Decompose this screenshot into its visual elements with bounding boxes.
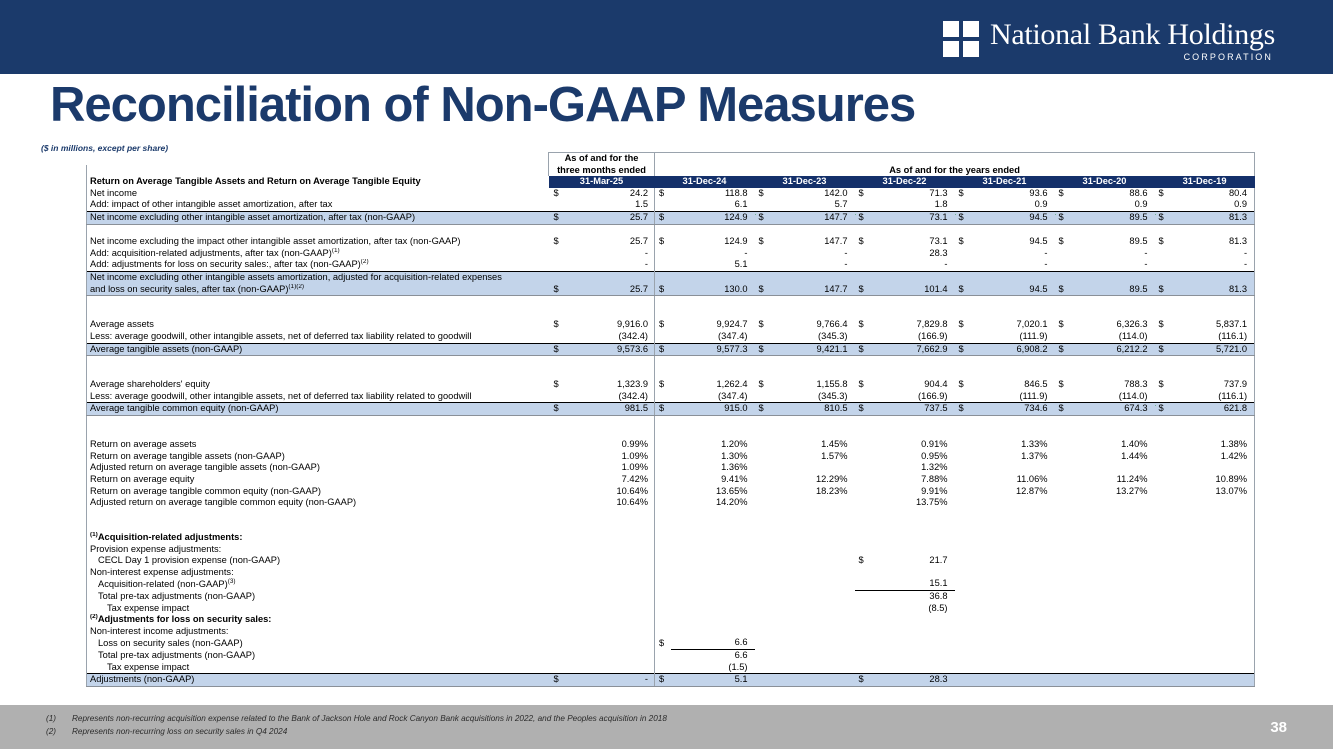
cell-value: 7.42%	[567, 474, 655, 486]
currency-symbol	[1155, 248, 1171, 260]
cell-value: 25.7	[567, 211, 655, 224]
cell-value: (1.5)	[671, 662, 755, 674]
footnote-ref: (2)	[90, 614, 98, 620]
cell-value: 9,573.6	[567, 343, 655, 356]
cell-value	[1171, 662, 1255, 674]
spacer-cell	[855, 462, 871, 474]
spacer-cell	[549, 603, 567, 615]
currency-symbol	[1155, 391, 1171, 403]
footnote-ref: (2)	[361, 259, 369, 265]
cell-value: 7.88%	[871, 474, 955, 486]
table-row: (1)Acquisition-related adjustments:	[87, 532, 1255, 544]
spacer-cell	[655, 462, 671, 474]
spacer-row	[87, 356, 1255, 368]
cell-value: 12.29%	[771, 474, 855, 486]
table-row-subtotal: Average tangible assets (non-GAAP) $ 9,5…	[87, 343, 1255, 356]
cell-value: 5,837.1	[1171, 319, 1255, 331]
cell-value	[1071, 649, 1155, 661]
currency-symbol: $	[855, 284, 871, 296]
group-header-years: As of and for the years ended	[655, 165, 1255, 177]
spacer-cell	[655, 308, 1255, 320]
footnote-1-heading: (1)Acquisition-related adjustments:	[87, 532, 549, 544]
cell-value: -	[567, 259, 655, 271]
currency-symbol: $	[1155, 403, 1171, 416]
table-row: Add: impact of other intangible asset am…	[87, 199, 1255, 211]
spacer-cell	[955, 637, 971, 649]
cell-value: 10.64%	[567, 486, 655, 498]
currency-symbol: $	[549, 674, 567, 687]
currency-symbol	[655, 331, 671, 343]
spacer-cell	[655, 474, 671, 486]
currency-symbol: $	[549, 211, 567, 224]
cell-value: -	[771, 259, 855, 271]
cell-value: -	[567, 674, 655, 687]
spacer-cell	[755, 439, 771, 451]
cell-value	[971, 662, 1055, 674]
currency-symbol	[955, 391, 971, 403]
cell-value: 81.3	[1171, 236, 1255, 248]
spacer-cell	[755, 649, 771, 661]
cell-value: 24.2	[567, 188, 655, 200]
cell-value: 11.24%	[1071, 474, 1155, 486]
header-bar: National Bank Holdings CORPORATION	[0, 0, 1333, 74]
cell-value: -	[771, 248, 855, 260]
spacer-cell	[1055, 462, 1071, 474]
cell-value: 28.3	[871, 674, 955, 687]
spacer-cell	[87, 509, 549, 521]
cell-value: (111.9)	[971, 331, 1055, 343]
cell-value: 130.0	[671, 284, 755, 296]
spacer-cell	[855, 578, 871, 590]
spacer-cell	[549, 614, 655, 626]
cell-value: (114.0)	[1071, 391, 1155, 403]
table-row: Acquisition-related (non-GAAP)(3) 15.1	[87, 578, 1255, 590]
spacer-cell	[549, 532, 655, 544]
cell-value: 1.44%	[1071, 451, 1155, 463]
cell-value: 1.45%	[771, 439, 855, 451]
spacer-cell	[655, 520, 1255, 532]
cell-value: 12.87%	[971, 486, 1055, 498]
cell-value: 5.1	[671, 674, 755, 687]
cell-value: 6,326.3	[1071, 319, 1155, 331]
spacer-cell	[655, 567, 1255, 579]
cell-value: 0.9	[1171, 199, 1255, 211]
cell-value: 1.37%	[971, 451, 1055, 463]
spacer-cell	[655, 271, 1255, 283]
spacer-cell	[549, 271, 655, 283]
cell-value: 915.0	[671, 403, 755, 416]
spacer-cell	[655, 603, 671, 615]
spacer-cell	[955, 662, 971, 674]
cell-value	[1071, 590, 1155, 602]
spacer-cell	[955, 497, 971, 509]
cell-value: 89.5	[1071, 284, 1155, 296]
cell-value: 674.3	[1071, 403, 1155, 416]
currency-symbol	[755, 248, 771, 260]
cell-value: 0.9	[971, 199, 1055, 211]
cell-value: 93.6	[971, 188, 1055, 200]
spacer-cell	[755, 662, 771, 674]
col-header-31-dec-22: 31-Dec-22	[855, 176, 955, 188]
spacer-cell	[549, 224, 655, 236]
cell-value: 73.1	[871, 211, 955, 224]
currency-symbol: $	[855, 674, 871, 687]
currency-symbol	[1055, 391, 1071, 403]
cell-value	[567, 603, 655, 615]
cell-value: 36.8	[871, 590, 955, 602]
spacer-cell	[549, 368, 655, 380]
cell-value	[1071, 637, 1155, 649]
spacer-cell	[87, 165, 549, 177]
cell-value	[1171, 555, 1255, 567]
cell-value: 1.09%	[567, 462, 655, 474]
spacer-cell	[755, 474, 771, 486]
currency-symbol: $	[655, 343, 671, 356]
spacer-cell	[955, 590, 971, 602]
cell-value: 9,766.4	[771, 319, 855, 331]
currency-symbol: $	[955, 188, 971, 200]
spacer-cell	[955, 649, 971, 661]
cell-value: -	[871, 259, 955, 271]
currency-symbol: $	[1055, 188, 1071, 200]
cell-value: 94.5	[971, 284, 1055, 296]
spacer-row	[87, 428, 1255, 440]
cell-value: 142.0	[771, 188, 855, 200]
spacer-cell	[755, 637, 771, 649]
spacer-cell	[1155, 637, 1171, 649]
cell-value	[971, 649, 1055, 661]
cell-value: 81.3	[1171, 211, 1255, 224]
spacer-cell	[549, 474, 567, 486]
cell-value: 81.3	[1171, 284, 1255, 296]
footnote-ref: (1)	[90, 532, 98, 538]
table-row-subtotal: Average tangible common equity (non-GAAP…	[87, 403, 1255, 416]
cell-value: 7,020.1	[971, 319, 1055, 331]
currency-symbol: $	[755, 343, 771, 356]
currency-symbol	[1055, 248, 1071, 260]
table-row: Less: average goodwill, other intangible…	[87, 391, 1255, 403]
spacer-cell	[1055, 497, 1071, 509]
currency-symbol	[1155, 331, 1171, 343]
row-label: Average tangible common equity (non-GAAP…	[87, 403, 549, 416]
cell-value: 737.9	[1171, 379, 1255, 391]
spacer-cell	[955, 603, 971, 615]
cell-value	[971, 637, 1055, 649]
row-label: Total pre-tax adjustments (non-GAAP)	[87, 649, 549, 661]
cell-value: -	[567, 248, 655, 260]
currency-symbol: $	[955, 379, 971, 391]
currency-symbol: $	[955, 319, 971, 331]
cell-value: 13.07%	[1171, 486, 1255, 498]
cell-value	[671, 603, 755, 615]
currency-symbol	[1155, 199, 1171, 211]
spacer-cell	[655, 590, 671, 602]
currency-symbol: $	[655, 637, 671, 649]
cell-value: (111.9)	[971, 391, 1055, 403]
spacer-cell	[549, 578, 567, 590]
row-label: Average tangible assets (non-GAAP)	[87, 343, 549, 356]
cell-value	[671, 578, 755, 590]
table-row: Average assets $ 9,916.0 $ 9,924.7 $ 9,7…	[87, 319, 1255, 331]
spacer-cell	[755, 590, 771, 602]
currency-symbol: $	[1055, 379, 1071, 391]
currency-symbol: $	[549, 284, 567, 296]
cell-value: 1.5	[567, 199, 655, 211]
cell-value: 18.23%	[771, 486, 855, 498]
cell-value: 734.6	[971, 403, 1055, 416]
cell-value: -	[1071, 259, 1155, 271]
spacer-cell	[87, 356, 549, 368]
cell-value	[971, 497, 1055, 509]
cell-value	[1071, 555, 1155, 567]
currency-symbol	[655, 199, 671, 211]
table-row: Return on average equity 7.42% 9.41% 12.…	[87, 474, 1255, 486]
spacer-cell	[655, 578, 671, 590]
table-row: Return on average assets 0.99% 1.20% 1.4…	[87, 439, 1255, 451]
row-label: Total pre-tax adjustments (non-GAAP)	[87, 590, 549, 602]
cell-value: 25.7	[567, 284, 655, 296]
cell-value	[1071, 674, 1155, 687]
spacer-cell	[87, 428, 549, 440]
currency-symbol	[1055, 199, 1071, 211]
spacer-cell	[87, 520, 549, 532]
footnote-1-text: Represents non-recurring acquisition exp…	[72, 714, 667, 723]
currency-symbol: $	[755, 403, 771, 416]
cell-value	[1071, 462, 1155, 474]
currency-symbol: $	[655, 284, 671, 296]
spacer-cell	[87, 153, 549, 165]
table-row: CECL Day 1 provision expense (non-GAAP) …	[87, 555, 1255, 567]
cell-value: 73.1	[871, 236, 955, 248]
cell-value: 11.06%	[971, 474, 1055, 486]
cell-value	[1171, 578, 1255, 590]
currency-symbol: $	[1055, 343, 1071, 356]
spacer-cell	[549, 590, 567, 602]
cell-value: (116.1)	[1171, 331, 1255, 343]
cell-value: 6,908.2	[971, 343, 1055, 356]
row-label: Net income excluding other intangible as…	[87, 211, 549, 224]
table-row: Adjusted return on average tangible comm…	[87, 497, 1255, 509]
spacer-cell	[1155, 439, 1171, 451]
table-row: Net income $ 24.2 $ 118.8 $ 142.0 $ 71.3…	[87, 188, 1255, 200]
spacer-cell	[655, 662, 671, 674]
cell-value	[971, 555, 1055, 567]
spacer-cell	[655, 555, 671, 567]
footnote-ref: (1)(2)	[288, 284, 304, 290]
currency-symbol: $	[1155, 188, 1171, 200]
row-label: Less: average goodwill, other intangible…	[87, 331, 549, 343]
cell-value: 904.4	[871, 379, 955, 391]
currency-symbol: $	[1055, 403, 1071, 416]
row-label: Net income excluding other intangible as…	[87, 271, 549, 283]
row-label: Net income excluding the impact other in…	[87, 236, 549, 248]
currency-symbol: $	[1155, 211, 1171, 224]
currency-symbol: $	[549, 403, 567, 416]
group-header-quarter-line1: As of and for the	[549, 153, 655, 165]
cell-value	[567, 662, 655, 674]
group-header-quarter-line2: three months ended	[549, 165, 655, 177]
cell-value: (116.1)	[1171, 391, 1255, 403]
currency-symbol: $	[755, 211, 771, 224]
row-label: Acquisition-related (non-GAAP)(3)	[87, 578, 549, 590]
currency-symbol: $	[655, 674, 671, 687]
currency-symbol: $	[855, 188, 871, 200]
table-row: Less: average goodwill, other intangible…	[87, 331, 1255, 343]
spacer-row	[87, 224, 1255, 236]
spacer-cell	[655, 486, 671, 498]
footnote-1-title: Acquisition-related adjustments:	[98, 532, 243, 542]
cell-value: (347.4)	[671, 331, 755, 343]
spacer-cell	[1055, 674, 1071, 687]
cell-value: 25.7	[567, 236, 655, 248]
spacer-cell	[549, 451, 567, 463]
currency-symbol	[855, 248, 871, 260]
row-label-text: Add: adjustments for loss on security sa…	[90, 259, 361, 269]
cell-value: 7,662.9	[871, 343, 955, 356]
currency-symbol	[1055, 331, 1071, 343]
cell-value	[771, 649, 855, 661]
table-row: Adjusted return on average tangible asse…	[87, 462, 1255, 474]
cell-value: 788.3	[1071, 379, 1155, 391]
cell-value: 0.95%	[871, 451, 955, 463]
spacer-cell	[655, 532, 1255, 544]
noninterest-income-header: Non-interest income adjustments:	[87, 626, 549, 638]
row-label: Add: adjustments for loss on security sa…	[87, 259, 549, 271]
cell-value	[771, 637, 855, 649]
footer-bar: (1) Represents non-recurring acquisition…	[0, 705, 1333, 749]
spacer-cell	[1155, 674, 1171, 687]
spacer-cell	[1155, 603, 1171, 615]
page-number: 38	[1270, 719, 1287, 736]
cell-value: 13.27%	[1071, 486, 1155, 498]
cell-value	[771, 674, 855, 687]
row-label-text: Add: acquisition-related adjustments, af…	[90, 248, 332, 258]
footnote-2-heading: (2)Adjustments for loss on security sale…	[87, 614, 549, 626]
table-row-subtotal: and loss on security sales, after tax (n…	[87, 284, 1255, 296]
cell-value: 13.65%	[671, 486, 755, 498]
footnote-2-title: Adjustments for loss on security sales:	[98, 614, 272, 624]
currency-symbol: $	[549, 379, 567, 391]
spacer-cell	[87, 308, 549, 320]
spacer-cell	[549, 520, 655, 532]
currency-symbol	[755, 331, 771, 343]
spacer-row	[87, 296, 1255, 308]
currency-symbol: $	[955, 236, 971, 248]
spacer-cell	[1055, 637, 1071, 649]
cell-value: 1.38%	[1171, 439, 1255, 451]
currency-symbol	[955, 248, 971, 260]
page-title: Reconciliation of Non-GAAP Measures	[50, 77, 915, 133]
currency-symbol: $	[549, 188, 567, 200]
spacer-cell	[855, 439, 871, 451]
cell-value	[871, 649, 955, 661]
currency-symbol: $	[855, 319, 871, 331]
spacer-cell	[549, 416, 655, 428]
spacer-cell	[1155, 662, 1171, 674]
spacer-cell	[855, 603, 871, 615]
row-label: Loss on security sales (non-GAAP)	[87, 637, 549, 649]
cell-value: -	[1071, 248, 1155, 260]
cell-value: (342.4)	[567, 331, 655, 343]
spacer-cell	[87, 368, 549, 380]
row-label: Add: impact of other intangible asset am…	[87, 199, 549, 211]
four-squares-icon	[943, 21, 979, 57]
currency-symbol	[549, 259, 567, 271]
col-header-31-dec-19: 31-Dec-19	[1155, 176, 1255, 188]
cell-value: 621.8	[1171, 403, 1255, 416]
spacer-cell	[655, 497, 671, 509]
cell-value: 5.7	[771, 199, 855, 211]
currency-symbol: $	[655, 379, 671, 391]
cell-value	[771, 590, 855, 602]
spacer-cell	[755, 555, 771, 567]
spacer-cell	[755, 451, 771, 463]
cell-value	[1171, 649, 1255, 661]
spacer-cell	[1055, 486, 1071, 498]
spacer-cell	[87, 296, 549, 308]
spacer-cell	[655, 368, 1255, 380]
currency-symbol	[655, 391, 671, 403]
spacer-cell	[655, 649, 671, 661]
cell-value	[971, 590, 1055, 602]
cell-value: -	[1171, 248, 1255, 260]
table-column-header-row: Return on Average Tangible Assets and Re…	[87, 176, 1255, 188]
cell-value: 1.36%	[671, 462, 755, 474]
table-row: Total pre-tax adjustments (non-GAAP) 36.…	[87, 590, 1255, 602]
cell-value: 124.9	[671, 211, 755, 224]
cell-value	[567, 555, 655, 567]
cell-value	[567, 590, 655, 602]
currency-symbol: $	[655, 211, 671, 224]
cell-value: 1,155.8	[771, 379, 855, 391]
spacer-cell	[655, 439, 671, 451]
cell-value: -	[671, 248, 755, 260]
spacer-cell	[549, 626, 655, 638]
spacer-cell	[855, 486, 871, 498]
currency-symbol: $	[855, 211, 871, 224]
cell-value: 0.9	[1071, 199, 1155, 211]
cell-value: 810.5	[771, 403, 855, 416]
row-label: Less: average goodwill, other intangible…	[87, 391, 549, 403]
spacer-cell	[549, 662, 567, 674]
spacer-cell	[1155, 497, 1171, 509]
cell-value: 981.5	[567, 403, 655, 416]
spacer-row	[87, 509, 1255, 521]
cell-value	[971, 462, 1055, 474]
spacer-cell	[855, 662, 871, 674]
cell-value: 1.40%	[1071, 439, 1155, 451]
cell-value: 89.5	[1071, 211, 1155, 224]
cell-value: 6.6	[671, 649, 755, 661]
row-label: Net income	[87, 188, 549, 200]
currency-symbol: $	[655, 236, 671, 248]
currency-symbol	[955, 259, 971, 271]
company-logo: National Bank Holdings CORPORATION	[943, 19, 1275, 61]
cell-value	[1071, 662, 1155, 674]
cell-value	[1071, 578, 1155, 590]
row-label: Adjusted return on average tangible asse…	[87, 462, 549, 474]
spacer-cell	[549, 497, 567, 509]
row-label: Adjusted return on average tangible comm…	[87, 497, 549, 509]
cell-value: 147.7	[771, 211, 855, 224]
currency-symbol: $	[755, 379, 771, 391]
currency-symbol: $	[755, 188, 771, 200]
cell-value	[971, 578, 1055, 590]
spacer-cell	[549, 509, 655, 521]
spacer-cell	[549, 649, 567, 661]
cell-value: 71.3	[871, 188, 955, 200]
row-label-text: Acquisition-related (non-GAAP)	[98, 579, 228, 589]
